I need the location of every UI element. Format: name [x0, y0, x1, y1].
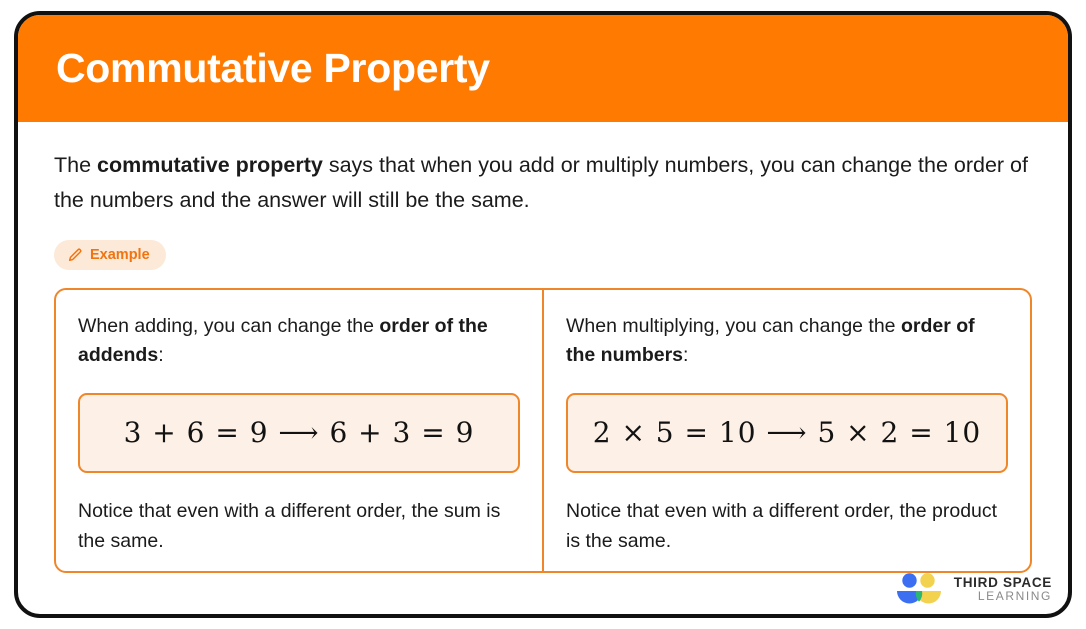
addition-lead-suffix: : — [158, 344, 163, 366]
logo-line-1: THIRD SPACE — [954, 576, 1052, 590]
example-badge: Example — [54, 240, 166, 270]
lesson-card: Commutative Property The commutative pro… — [14, 11, 1072, 618]
multiplication-lead-suffix: : — [683, 344, 688, 366]
addition-lead-prefix: When adding, you can change the — [78, 315, 379, 337]
pencil-icon — [67, 247, 83, 263]
logo-mark-icon — [893, 572, 945, 606]
multiplication-lead: When multiplying, you can change the ord… — [566, 312, 1008, 371]
multiplication-equation: 2 × 5 = 10 ⟶ 5 × 2 = 10 — [593, 416, 982, 449]
card-body: The commutative property says that when … — [18, 122, 1068, 618]
example-column-multiplication: When multiplying, you can change the ord… — [544, 290, 1030, 571]
example-column-addition: When adding, you can change the order of… — [56, 290, 544, 571]
logo-line-2: LEARNING — [954, 590, 1052, 603]
page-title: Commutative Property — [56, 45, 490, 92]
card-header: Commutative Property — [18, 15, 1068, 122]
intro-term: commutative property — [97, 153, 323, 177]
addition-equation: 3 + 6 = 9 ⟶ 6 + 3 = 9 — [124, 416, 475, 449]
intro-paragraph: The commutative property says that when … — [54, 148, 1032, 218]
example-panel: When adding, you can change the order of… — [54, 288, 1032, 573]
multiplication-note: Notice that even with a different order,… — [566, 497, 1008, 556]
multiplication-lead-prefix: When multiplying, you can change the — [566, 315, 901, 337]
example-badge-label: Example — [90, 247, 150, 263]
addition-lead: When adding, you can change the order of… — [78, 312, 520, 371]
intro-prefix: The — [54, 153, 97, 177]
third-space-learning-logo: THIRD SPACE LEARNING — [893, 572, 1052, 606]
logo-wordmark: THIRD SPACE LEARNING — [954, 576, 1052, 603]
addition-note: Notice that even with a different order,… — [78, 497, 520, 556]
multiplication-equation-box: 2 × 5 = 10 ⟶ 5 × 2 = 10 — [566, 393, 1008, 473]
addition-equation-box: 3 + 6 = 9 ⟶ 6 + 3 = 9 — [78, 393, 520, 473]
